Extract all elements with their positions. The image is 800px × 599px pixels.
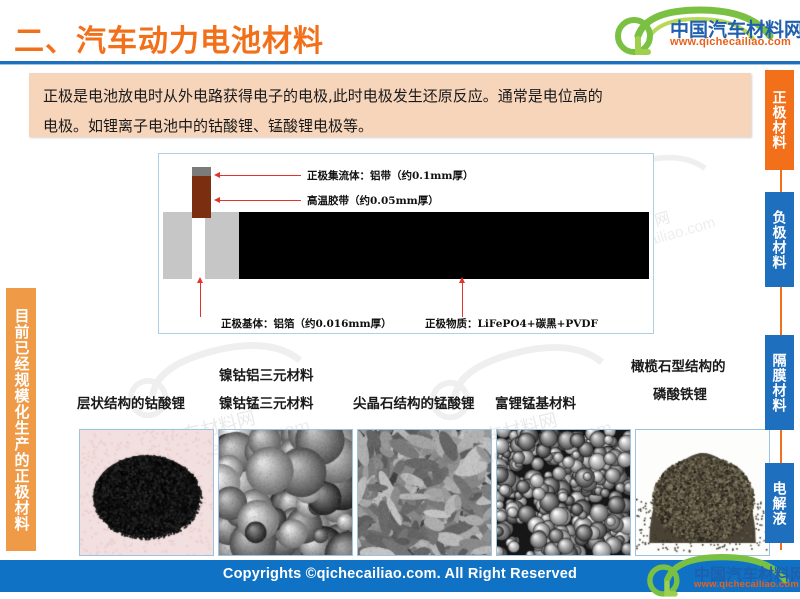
definition-callout: 正极是电池放电时从外电路获得电子的电极,此时电极发生还原反应。通常是电位高的 电… <box>29 73 751 137</box>
diagram-label-current-collector: 正极集流体：铝带（约0.1mm厚） <box>307 168 474 183</box>
footer-logo-url: www.qichecailiao.com <box>694 579 799 590</box>
electrode-structure-diagram: 正极集流体：铝带（约0.1mm厚） 高温胶带（约0.05mm厚） 正极基体：铝箔… <box>158 153 654 334</box>
photo-lco-powder[interactable] <box>79 429 214 556</box>
caption-lmo: 尖晶石结构的锰酸锂 <box>353 396 475 413</box>
caption-lfp-line2: 磷酸铁锂 <box>653 387 707 404</box>
slide-root: 二、汽车动力电池材料 中国汽车材料网 www.qichecailiao.com … <box>0 0 800 599</box>
callout-line-1: 正极是电池放电时从外电路获得电子的电极,此时电极发生还原反应。通常是电位高的 <box>43 87 603 105</box>
arrow-high-temp-tape <box>219 200 301 201</box>
photo-lmo-sem[interactable] <box>357 429 492 556</box>
arrow-current-collector <box>219 175 301 176</box>
arrow-active-material <box>462 282 463 317</box>
diagram-black-coating <box>239 212 649 279</box>
diagram-brown-tape <box>192 174 211 218</box>
arrow-substrate <box>200 282 201 317</box>
nav-tab-anode[interactable]: 负极材料 <box>765 192 794 287</box>
diagram-gray-tab <box>192 167 211 176</box>
photo-nca-ncm-sem[interactable] <box>218 429 353 556</box>
logo-url: www.qichecailiao.com <box>670 36 791 48</box>
caption-lco: 层状结构的钴酸锂 <box>77 396 185 413</box>
caption-li-rich: 富锂锰基材料 <box>495 396 576 413</box>
site-logo-header[interactable]: 中国汽车材料网 www.qichecailiao.com <box>608 6 786 56</box>
caption-lfp-line1: 橄榄石型结构的 <box>631 359 726 376</box>
diagram-label-high-temp-tape: 高温胶带（约0.05mm厚） <box>307 193 439 208</box>
header-divider-thin <box>0 64 800 65</box>
caption-nca: 镍钴铝三元材料 <box>219 368 314 385</box>
watermark-car-icon-3 <box>413 324 626 429</box>
photo-lfp-powder[interactable] <box>635 429 770 556</box>
callout-line-2: 电极。如锂离子电池中的钴酸锂、锰酸锂电极等。 <box>43 117 373 135</box>
nav-tab-cathode[interactable]: 正极材料 <box>765 70 794 170</box>
diagram-label-substrate: 正极基体：铝箔（约0.016mm厚） <box>221 316 392 331</box>
photo-li-rich-sem[interactable] <box>496 429 631 556</box>
nav-tab-electrolyte[interactable]: 电解液 <box>765 463 794 543</box>
nav-tab-separator[interactable]: 隔膜材料 <box>765 335 794 430</box>
watermark-logo-3: 中国汽车材料网 www.qichecailiao.com <box>413 324 626 429</box>
page-title: 二、汽车动力电池材料 <box>14 16 324 60</box>
diagram-white-foil <box>192 212 205 280</box>
left-section-tab[interactable]: 目前已经规模化生产的正极材料 <box>6 288 36 551</box>
diagram-label-active-material: 正极物质：LiFePO4+碳黑+PVDF <box>425 316 598 331</box>
site-logo-footer[interactable]: 中国汽车材料网 www.qichecailiao.com <box>640 553 800 599</box>
caption-ncm: 镍钴锰三元材料 <box>219 396 314 413</box>
